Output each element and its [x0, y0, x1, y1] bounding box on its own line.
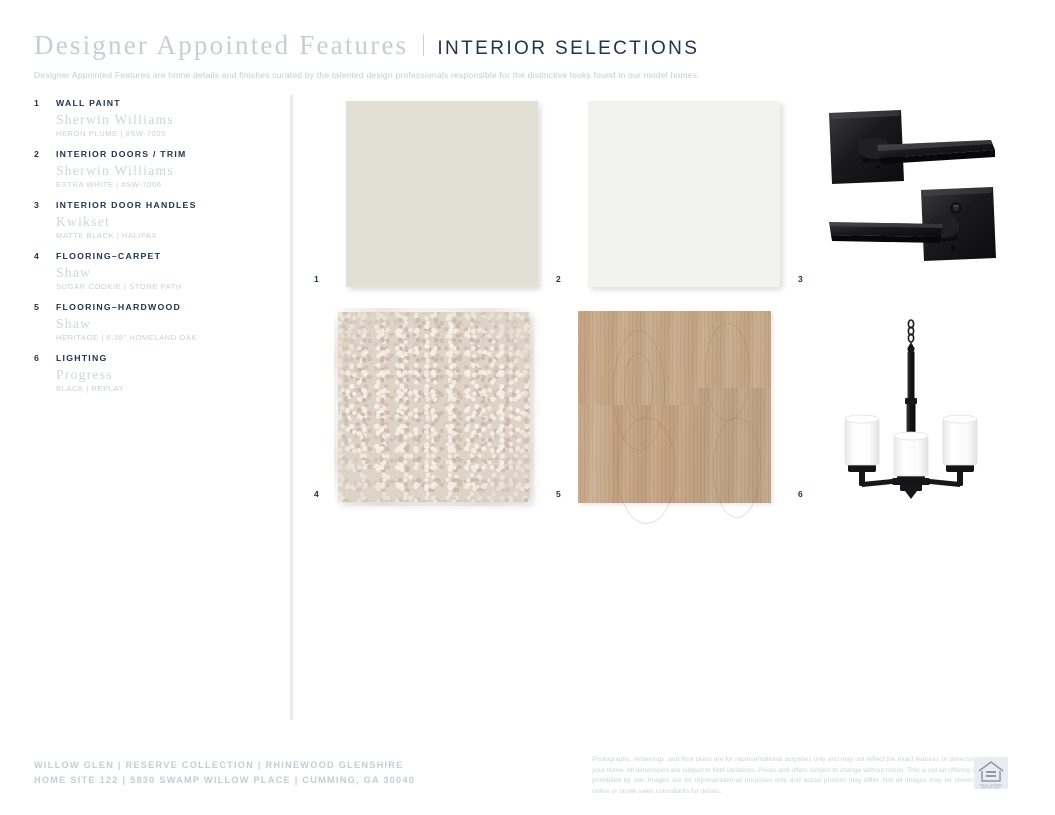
- footer-community-info: WILLOW GLEN | RESERVE COLLECTION | RHINE…: [34, 758, 415, 788]
- selection-category: LIGHTING: [56, 353, 108, 363]
- selection-heading: 3 INTERIOR DOOR HANDLES: [34, 200, 269, 210]
- selection-number: 2: [34, 149, 56, 159]
- selection-number: 4: [34, 251, 56, 261]
- chandelier-photo: [826, 318, 1006, 508]
- selection-detail: EXTRA WHITE | #SW-7006: [56, 180, 269, 189]
- page-header: Designer Appointed Features INTERIOR SEL…: [34, 30, 1014, 80]
- selection-heading: 4 FLOORING–CARPET: [34, 251, 269, 261]
- page-title: Designer Appointed Features: [34, 30, 408, 61]
- door-handles-photo: [815, 98, 1007, 290]
- wall-paint-swatch: [346, 101, 538, 287]
- selections-list: 1 WALL PAINT Sherwin Williams HERON PLUM…: [34, 98, 269, 404]
- page-subtitle-heading: INTERIOR SELECTIONS: [437, 38, 699, 60]
- selection-brand: Progress: [56, 367, 269, 383]
- selection-heading: 1 WALL PAINT: [34, 98, 269, 108]
- hardwood-sample-photo: [578, 311, 771, 503]
- selection-category: INTERIOR DOORS / TRIM: [56, 149, 187, 159]
- carpet-sample-photo: [338, 312, 530, 502]
- title-row: Designer Appointed Features INTERIOR SEL…: [34, 30, 1014, 61]
- wood-grain-arc: [617, 417, 677, 525]
- page-description: Designer Appointed Features are home det…: [34, 70, 1014, 80]
- list-item: 4 FLOORING–CARPET Shaw SUGAR COOKIE | ST…: [34, 251, 269, 291]
- swatch-number-6: 6: [798, 489, 803, 499]
- swatch-number-4: 4: [314, 489, 319, 499]
- footer-community-line-1: WILLOW GLEN | RESERVE COLLECTION | RHINE…: [34, 758, 415, 773]
- svg-text:OPPORTUNITY: OPPORTUNITY: [981, 786, 1001, 789]
- selection-detail: HERITAGE | 6.38" HOMELAND OAK: [56, 333, 269, 342]
- swatch-number-5: 5: [556, 489, 561, 499]
- selection-detail: HERON PLUME | #SW-7005: [56, 129, 269, 138]
- selection-brand: Shaw: [56, 316, 269, 332]
- door-handle-icon: [815, 98, 1007, 290]
- selection-heading: 2 INTERIOR DOORS / TRIM: [34, 149, 269, 159]
- swatch-number-3: 3: [798, 274, 803, 284]
- wood-grain-arc: [713, 417, 761, 519]
- selection-category: INTERIOR DOOR HANDLES: [56, 200, 197, 210]
- footer-disclaimer: Photographs, renderings, and floor plans…: [592, 755, 990, 798]
- wood-plank-lower-left: [578, 405, 611, 503]
- selection-brand: Kwikset: [56, 214, 269, 230]
- list-item: 6 LIGHTING Progress BLACK | REPLAY: [34, 353, 269, 393]
- selection-number: 6: [34, 353, 56, 363]
- chandelier-icon: [826, 318, 1006, 508]
- selection-category: FLOORING–HARDWOOD: [56, 302, 181, 312]
- selection-number: 3: [34, 200, 56, 210]
- list-item: 5 FLOORING–HARDWOOD Shaw HERITAGE | 6.38…: [34, 302, 269, 342]
- selection-category: WALL PAINT: [56, 98, 121, 108]
- selection-detail: SUGAR COOKIE | STONE PATH: [56, 282, 269, 291]
- equal-housing-icon: EQUAL HOUSING OPPORTUNITY: [974, 757, 1008, 789]
- selection-heading: 6 LIGHTING: [34, 353, 269, 363]
- interior-door-trim-paint-swatch: [588, 101, 780, 287]
- title-separator: [423, 34, 424, 56]
- selection-brand: Shaw: [56, 265, 269, 281]
- swatch-number-1: 1: [314, 274, 319, 284]
- selection-number: 5: [34, 302, 56, 312]
- selection-number: 1: [34, 98, 56, 108]
- carpet-texture: [338, 312, 530, 502]
- wood-grain-arc: [624, 353, 653, 420]
- list-item: 1 WALL PAINT Sherwin Williams HERON PLUM…: [34, 98, 269, 138]
- footer-community-line-2: HOME SITE 122 | 5830 SWAMP WILLOW PLACE …: [34, 773, 415, 788]
- vertical-divider: [290, 95, 293, 720]
- selection-body: Sherwin Williams EXTRA WHITE | #SW-7006: [56, 163, 269, 189]
- selection-heading: 5 FLOORING–HARDWOOD: [34, 302, 269, 312]
- list-item: 3 INTERIOR DOOR HANDLES Kwikset MATTE BL…: [34, 200, 269, 240]
- selection-body: Progress BLACK | REPLAY: [56, 367, 269, 393]
- selection-body: Sherwin Williams HERON PLUME | #SW-7005: [56, 112, 269, 138]
- selection-brand: Sherwin Williams: [56, 112, 269, 128]
- wood-grain-arc: [705, 323, 749, 421]
- selection-body: Kwikset MATTE BLACK | HALIFAX: [56, 214, 269, 240]
- selection-detail: BLACK | REPLAY: [56, 384, 269, 393]
- selection-body: Shaw HERITAGE | 6.38" HOMELAND OAK: [56, 316, 269, 342]
- selection-detail: MATTE BLACK | HALIFAX: [56, 231, 269, 240]
- selection-category: FLOORING–CARPET: [56, 251, 161, 261]
- swatch-number-2: 2: [556, 274, 561, 284]
- list-item: 2 INTERIOR DOORS / TRIM Sherwin Williams…: [34, 149, 269, 189]
- equal-housing-opportunity-logo: EQUAL HOUSING OPPORTUNITY: [974, 757, 1008, 789]
- selection-body: Shaw SUGAR COOKIE | STONE PATH: [56, 265, 269, 291]
- selection-brand: Sherwin Williams: [56, 163, 269, 179]
